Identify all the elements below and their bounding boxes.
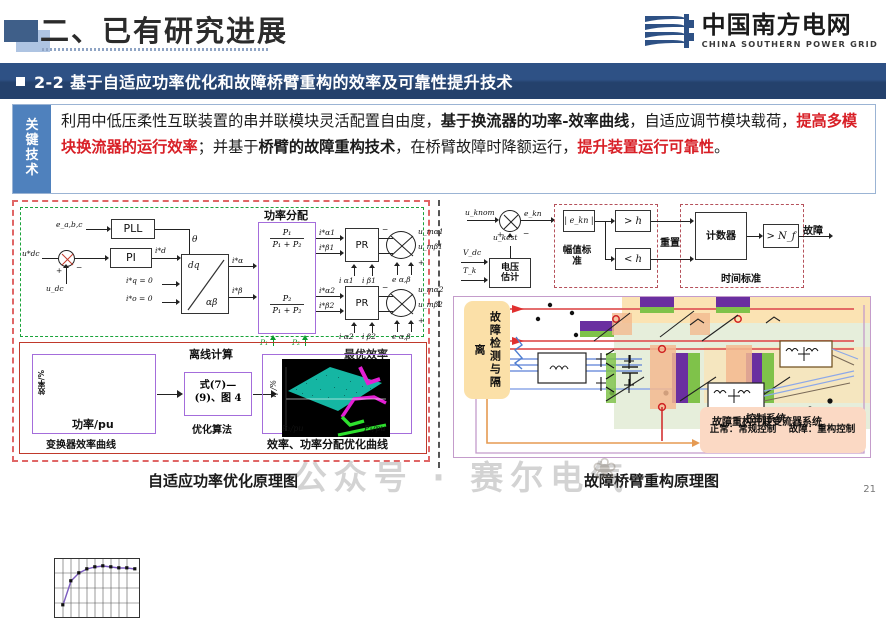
line-udc-up: [66, 268, 67, 284]
counter-label: 计数器: [706, 231, 736, 242]
line-ekn: [521, 220, 553, 221]
arrow-iq: [176, 281, 180, 287]
power-allocation-title: 功率分配: [264, 207, 308, 223]
optimization-formula-text: 式(7)—(9)、图 4: [188, 380, 248, 405]
pll-block: PLL: [111, 219, 155, 239]
pi-block: PI: [110, 248, 152, 268]
arrow-ialpha: [253, 263, 257, 269]
line-pa2: [316, 296, 342, 297]
kt-p4: ，在桥臂故障时降额运行，: [395, 138, 577, 156]
pr-block-1: PR: [345, 228, 379, 262]
label-umalpha2: u_mα2: [418, 285, 444, 294]
label-eab-1: e α,β: [392, 275, 411, 284]
keytag-char-1: 关: [25, 119, 38, 134]
converter-circuit-region: 故障检测与隔离: [453, 296, 871, 458]
fault-arm-reconstruction-diagram: u_knom + − e_kn u_kest 电压估计 V_dc T_k | e…: [447, 200, 877, 462]
label-fb-ib1: i β1: [362, 276, 376, 285]
key-technology-box: 关 键 技 术 利用中低压柔性互联装置的串并联模块灵活配置自由度，基于换流器的功…: [12, 104, 876, 194]
voltage-estimator-block: 电压估计: [489, 258, 531, 288]
arrow-vdc: [484, 259, 488, 265]
ratio-1: P₁ P₁ + P₂: [266, 228, 308, 249]
kt-b1: 基于换流器的功率-效率曲线: [441, 112, 630, 130]
ratio1-denominator: P₁ + P₂: [266, 240, 308, 249]
ratio2-bar: [270, 304, 304, 305]
label-id-ref: i*d: [155, 246, 166, 255]
label-ialpha2-ref: i*α2: [319, 286, 335, 295]
keytag-char-4: 术: [25, 164, 38, 179]
arrow-io: [176, 299, 180, 305]
line-uknom: [467, 220, 497, 221]
line-fb-ib1: [372, 268, 373, 276]
sum-minus-sign: −: [76, 263, 82, 272]
keytag-char-2: 键: [25, 134, 38, 149]
line-ibeta: [229, 297, 255, 298]
kt-r2: 提升装置运行可靠性: [577, 138, 714, 156]
arrow-ukest-up: [507, 233, 513, 237]
label-ialpha1-ref: i*α1: [319, 228, 335, 237]
dq-label: dq: [188, 262, 200, 272]
label-ukest: u_kest: [493, 233, 517, 242]
adaptive-power-optimization-diagram: e_a,b,c PLL θ u*dc + − u_dc PI i*d dq αβ…: [12, 200, 430, 462]
sum-minus-right: −: [523, 229, 529, 238]
label-vdc: V_dc: [463, 248, 481, 257]
line-eab-2b: [411, 324, 412, 332]
key-technology-tag: 关 键 技 术: [13, 105, 51, 193]
arrow-pa2: [340, 293, 344, 299]
label-ialpha-ref: i*α: [232, 256, 243, 265]
efficiency-chart-plot: [54, 558, 140, 618]
line-pb2: [316, 311, 342, 312]
line-eab-1b: [411, 266, 412, 275]
line-pll-down: [189, 229, 190, 254]
ratio1-numerator: P₁: [266, 228, 308, 237]
key-technology-paragraph: 利用中低压柔性互联装置的串并联模块灵活配置自由度，基于换流器的功率-效率曲线，自…: [51, 105, 875, 193]
abs-value-label: | e_kn |: [564, 217, 593, 226]
efficiency-chart-xlabel: 功率/pu: [72, 416, 114, 432]
label-eab-2: e α,β: [392, 332, 411, 341]
error-summing-junction: [499, 210, 521, 232]
gt-h-label: > h: [624, 216, 642, 227]
logo-chinese-name: 中国南方电网: [702, 13, 878, 38]
voltage-estimator-label: 电压估计: [499, 263, 521, 284]
line-fb-ia1: [354, 268, 355, 276]
arrow-sum-pi: [105, 255, 109, 261]
ratio2-denominator: P₁ + P₂: [266, 306, 308, 315]
amplitude-criterion-text: 幅值标准: [563, 245, 592, 267]
section-title: 2-2 基于自适应功率优化和故障桥臂重构的效率及可靠性提升技术: [34, 69, 513, 93]
line-reset-counter-2: [679, 259, 691, 260]
label-io-zero: i*o = 0: [126, 294, 153, 303]
arrow-tk: [484, 277, 488, 283]
label-fb-ia2: i α2: [339, 332, 354, 341]
line-ialpha: [229, 266, 255, 267]
keytag-char-3: 技: [25, 149, 38, 164]
panel-divider: [438, 200, 440, 468]
left-diagram-caption: 自适应功率优化原理图: [148, 470, 298, 491]
dq-alphabeta-block: dq αβ: [181, 254, 229, 314]
less-than-h-block: < h: [615, 248, 651, 270]
greater-than-nf-block: > N_f: [763, 224, 799, 248]
offline-computation-title: 离线计算: [189, 346, 233, 362]
page-number: 21: [863, 484, 876, 495]
line-eab-2a: [397, 324, 398, 332]
section-header-bar: 2-2 基于自适应功率优化和故障桥臂重构的效率及可靠性提升技术: [0, 63, 886, 99]
gt-nf-label: > N_f: [766, 231, 795, 242]
kt-p5: 。: [714, 138, 729, 156]
abs-value-block: | e_kn |: [563, 210, 595, 232]
brand-logo: 中国南方电网 CHINA SOUTHERN POWER GRID: [643, 8, 878, 54]
section-bullet-icon: [16, 77, 25, 86]
arrow-udc-up: [63, 264, 69, 268]
label-e-abc: e_a,b,c: [56, 220, 82, 229]
sum-junction-1: [386, 231, 416, 259]
label-udc-ref: u*dc: [22, 249, 40, 258]
line-lt-reset: [651, 259, 679, 260]
label-umbeta2: u_mβ2: [418, 300, 443, 309]
line-pi-dq: [152, 258, 179, 259]
line-eabc-pll: [86, 229, 109, 230]
watermark-flower-icon: ❀: [592, 452, 617, 487]
label-ibeta1-ref: i*β1: [319, 243, 334, 252]
kt-b2: 桥臂的故障重构技术: [258, 138, 395, 156]
sum1-minus: −: [382, 225, 388, 234]
scatter-xlabel-p2: P₂/pu: [282, 424, 304, 433]
sum2-plus: +: [418, 316, 424, 325]
greater-than-h-block: > h: [615, 210, 651, 232]
pr-block-2: PR: [345, 286, 379, 320]
efficiency-chart-caption: 变换器效率曲线: [46, 436, 116, 451]
label-umbeta1: u_mβ1: [418, 242, 443, 251]
header-accent-square-front: [4, 20, 38, 42]
kt-p1: 利用中低压柔性互联装置的串并联模块灵活配置自由度，: [61, 112, 441, 130]
counter-block: 计数器: [695, 212, 747, 260]
label-fb-ib2: i β2: [362, 332, 376, 341]
line-pll-out: [155, 229, 189, 230]
scatter-caption: 效率、功率分配优化曲线: [267, 436, 388, 452]
line-abs-split: [605, 221, 606, 259]
fault-output-label: 故障: [803, 222, 823, 237]
label-uknom: u_knom: [465, 208, 495, 217]
sum2-minus: −: [382, 283, 388, 292]
sum-plus-sign: +: [56, 266, 62, 275]
label-ekn: e_kn: [524, 209, 542, 218]
label-theta: θ: [192, 235, 197, 245]
line-pa1: [316, 238, 342, 239]
reconstruction-annotation: 故障重构并联变流器系统: [707, 416, 827, 430]
arrow-pa1: [340, 235, 344, 241]
line-sum-pi: [75, 258, 107, 259]
label-udc: u_dc: [46, 284, 64, 293]
label-tk: T_k: [463, 266, 476, 275]
kt-p2: ，自适应调节模块载荷，: [629, 112, 796, 130]
line-fb-ia2: [354, 326, 355, 333]
slide-header: 二、已有研究进展 中国南方电网 CHINA SOUTHERN POWER GRI…: [0, 0, 886, 62]
line-eab-1a: [397, 266, 398, 275]
logo-text: 中国南方电网 CHINA SOUTHERN POWER GRID: [702, 13, 878, 49]
label-iq-zero: i*q = 0: [126, 276, 153, 285]
label-ibeta-ref: i*β: [232, 286, 243, 295]
scatter-ylabel: η /%: [269, 380, 278, 398]
reset-label: 重置: [660, 234, 680, 249]
ratio2-numerator: P₂: [266, 294, 308, 303]
sum-junction-2: [386, 289, 416, 317]
label-fb-ia1: i α1: [339, 276, 354, 285]
optimization-algorithm-label: 优化算法: [192, 421, 232, 436]
ratio1-bar: [270, 238, 304, 239]
title-underline: [42, 48, 270, 51]
csg-grid-logo-icon: [643, 11, 695, 51]
alphabeta-label: αβ: [206, 299, 217, 309]
arrow-chart-algo: [177, 390, 183, 398]
sum1-plus: +: [418, 258, 424, 267]
label-ibeta2-ref: i*β2: [319, 301, 334, 310]
efficiency-chart-ylabel: 效率/%: [36, 370, 47, 395]
line-reset-counter: [679, 221, 691, 222]
arrow-pb1: [340, 250, 344, 256]
line-pb1: [316, 253, 342, 254]
time-criterion-label: 时间标准: [721, 270, 761, 285]
arrow-pb2: [340, 308, 344, 314]
arrow-fault-out: [829, 233, 833, 239]
kt-p3: ；并基于: [198, 138, 259, 156]
line-gt-reset: [651, 221, 679, 222]
arrow-ibeta: [253, 294, 257, 300]
ratio-2: P₂ P₁ + P₂: [266, 294, 308, 315]
lt-h-label: < h: [624, 254, 642, 265]
line-udcref-sum: [42, 258, 58, 259]
page-title: 二、已有研究进展: [40, 8, 288, 50]
scatter-xlabel-p1: P₁/pu: [364, 424, 386, 433]
line-chart-algo: [157, 394, 179, 395]
amplitude-criterion-label: 幅值标准: [559, 246, 595, 268]
label-umalpha1: u_mα1: [418, 227, 444, 236]
logo-english-name: CHINA SOUTHERN POWER GRID: [702, 39, 878, 49]
